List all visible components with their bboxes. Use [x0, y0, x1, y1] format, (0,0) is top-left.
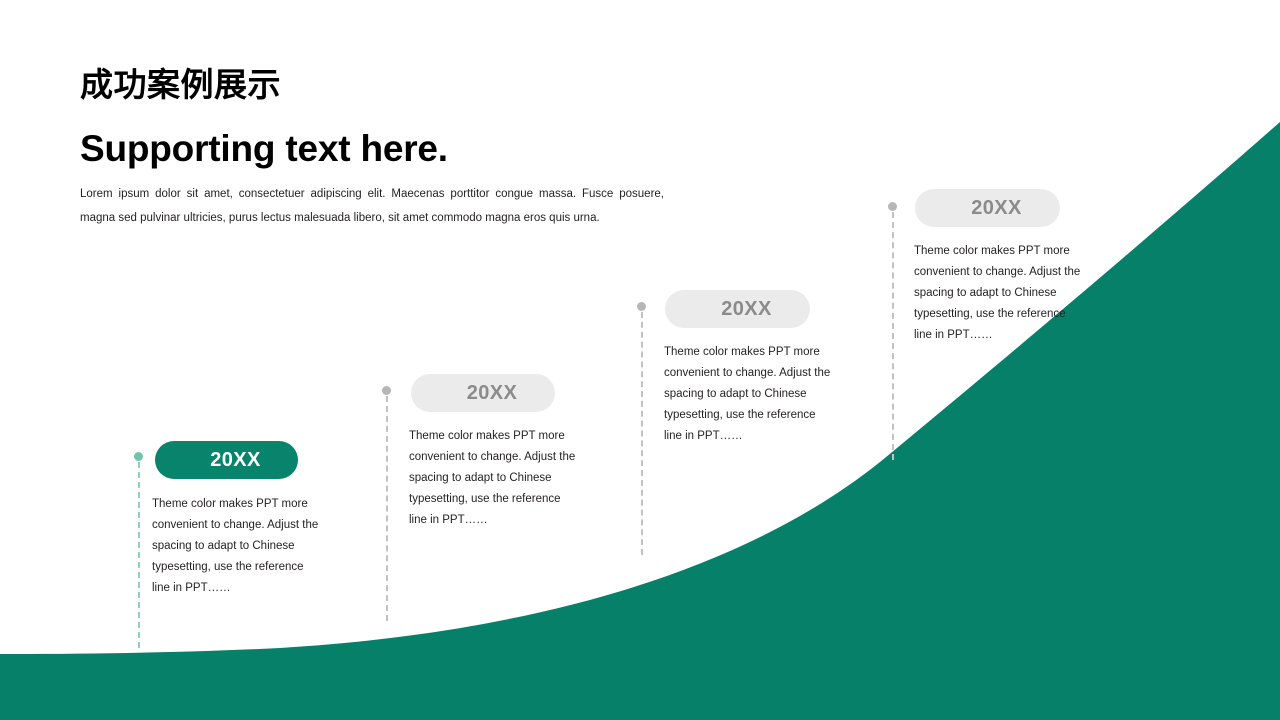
- page-subtitle-en: Supporting text here.: [80, 128, 448, 170]
- connector-dash-2: [386, 396, 388, 621]
- connector-line-4: [888, 202, 897, 460]
- year-label-4: 20XX: [953, 197, 1022, 220]
- page-title-cn: 成功案例展示: [80, 58, 281, 106]
- intro-paragraph: Lorem ipsum dolor sit amet, consectetuer…: [80, 182, 664, 230]
- milestone-body-4: Theme color makes PPT more convenient to…: [914, 241, 1086, 346]
- connector-dash-1: [138, 462, 140, 648]
- connector-dot-icon-4: [888, 202, 897, 211]
- year-pill-1[interactable]: 20XX: [155, 441, 298, 479]
- connector-dot-icon-1: [134, 452, 143, 461]
- connector-dash-4: [892, 212, 894, 460]
- connector-dot-icon-3: [637, 302, 646, 311]
- connector-dash-3: [641, 312, 643, 555]
- year-label-3: 20XX: [703, 298, 772, 321]
- connector-line-1: [134, 452, 143, 648]
- milestone-body-2: Theme color makes PPT more convenient to…: [409, 426, 579, 531]
- milestone-body-3: Theme color makes PPT more convenient to…: [664, 342, 834, 447]
- connector-dot-icon-2: [382, 386, 391, 395]
- year-label-1: 20XX: [192, 449, 261, 472]
- slide-canvas: 成功案例展示 Supporting text here. Lorem ipsum…: [0, 0, 1280, 720]
- year-label-2: 20XX: [449, 382, 518, 405]
- year-pill-3[interactable]: 20XX: [665, 290, 810, 328]
- year-pill-4[interactable]: 20XX: [915, 189, 1060, 227]
- milestone-body-1: Theme color makes PPT more convenient to…: [152, 494, 320, 599]
- connector-line-2: [382, 386, 391, 621]
- year-pill-2[interactable]: 20XX: [411, 374, 555, 412]
- connector-line-3: [637, 302, 646, 555]
